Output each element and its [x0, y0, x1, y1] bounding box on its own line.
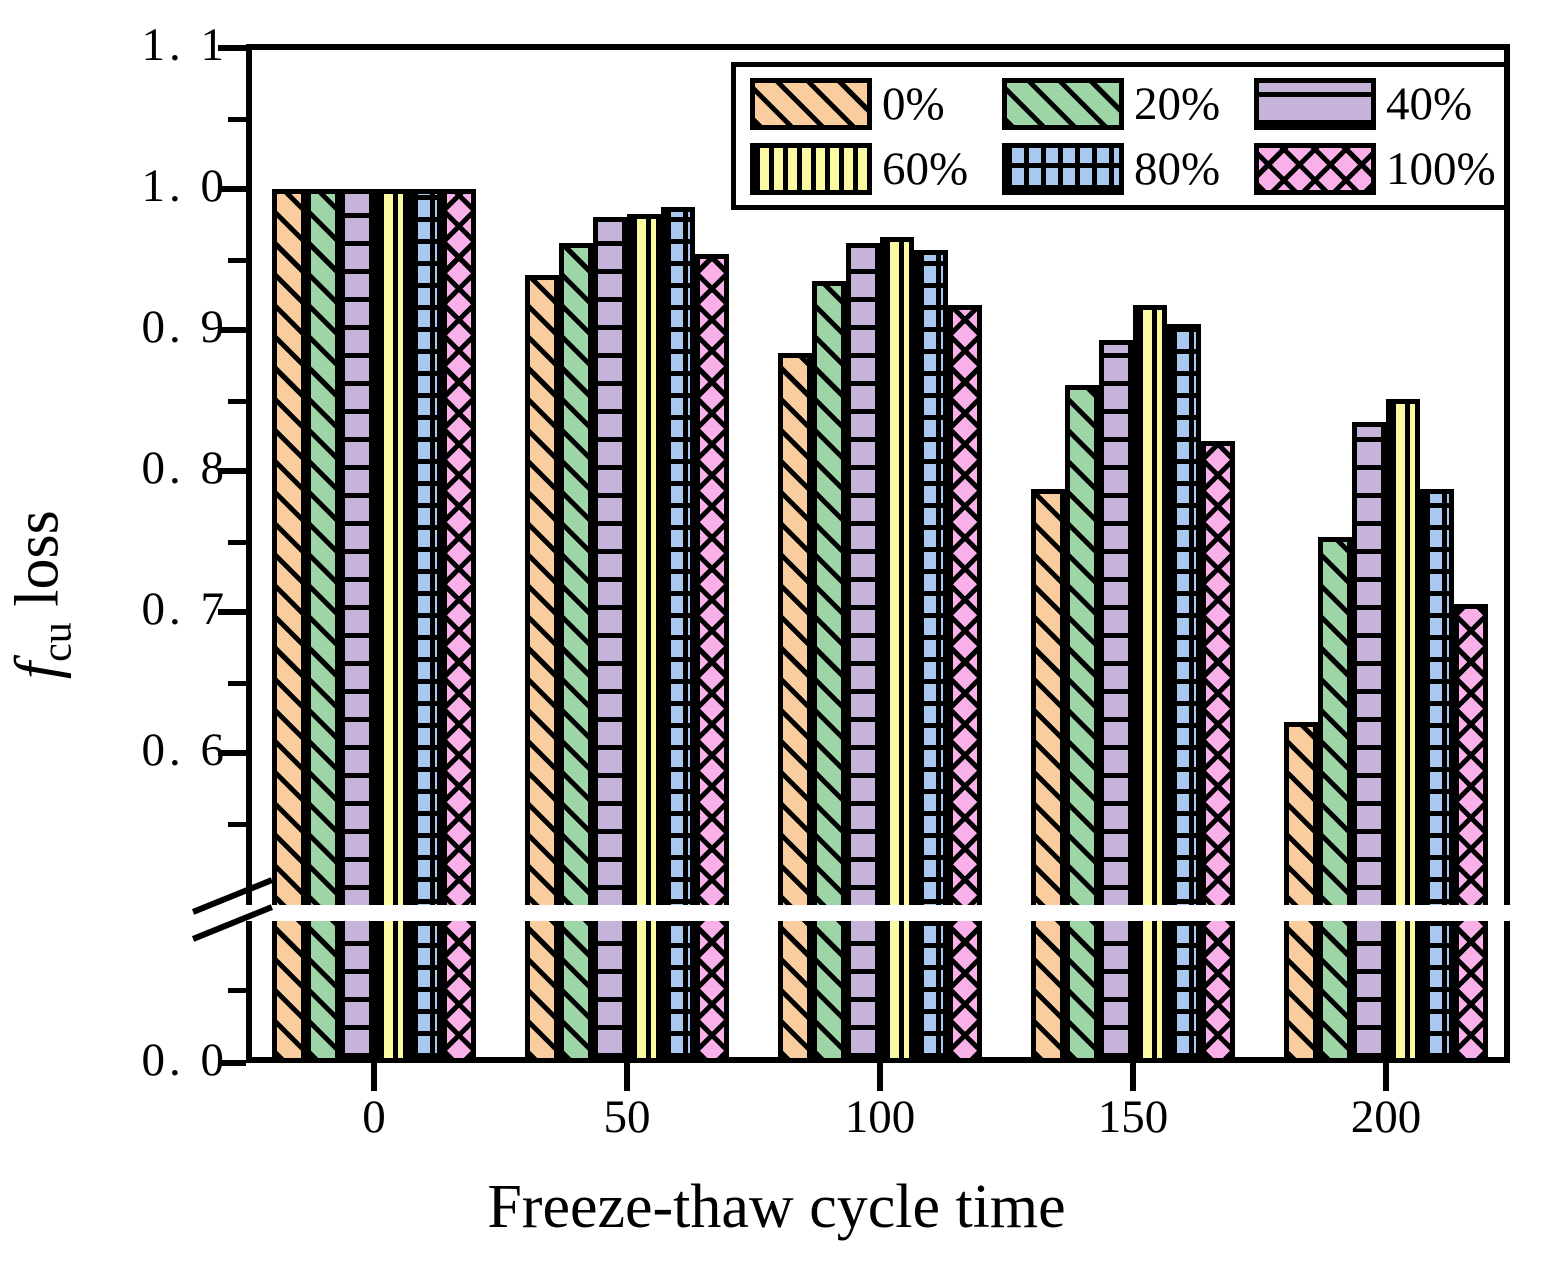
legend-swatch-100pct [1254, 143, 1376, 195]
y-axis-title: fcu loss [2, 365, 81, 825]
bar-100-60pct [880, 237, 914, 1063]
y-tick-minor [228, 258, 246, 263]
x-tick-label: 200 [1306, 1090, 1466, 1144]
legend-label: 60% [882, 142, 968, 196]
y-tick-label: 1. 1 [108, 18, 228, 72]
bar-100-20pct [812, 281, 846, 1063]
y-tick-label: 0. 8 [108, 441, 228, 495]
y-tick-minor [228, 399, 246, 404]
legend: 0%20%40%60%80%100% [731, 62, 1509, 210]
bar-100-100pct [948, 305, 982, 1063]
y-tick-minor [228, 681, 246, 686]
bar-200-0pct [1284, 722, 1318, 1063]
x-tick-50 [624, 1063, 630, 1091]
y-axis-title-italic: f [3, 662, 71, 679]
x-tick-label: 0 [294, 1090, 454, 1144]
legend-item-0pct[interactable]: 0% [742, 77, 994, 131]
bar-50-40pct [593, 217, 627, 1063]
y-tick-label: 0. 0 [108, 1033, 228, 1087]
bar-0-0pct [272, 189, 306, 1063]
bar-50-0pct [525, 275, 559, 1063]
legend-swatch-20pct [1002, 78, 1124, 130]
bar-200-80pct [1420, 489, 1454, 1063]
bar-150-100pct [1201, 441, 1235, 1063]
legend-label: 80% [1134, 142, 1220, 196]
x-tick-0 [371, 1063, 377, 1091]
legend-swatch-60pct [750, 143, 872, 195]
bar-150-80pct [1167, 324, 1201, 1063]
x-tick-label: 50 [547, 1090, 707, 1144]
legend-swatch-80pct [1002, 143, 1124, 195]
bar-200-100pct [1454, 604, 1488, 1063]
x-tick-label: 100 [800, 1090, 960, 1144]
x-tick-label: 150 [1053, 1090, 1213, 1144]
bar-100-80pct [914, 250, 948, 1063]
legend-item-20pct[interactable]: 20% [994, 77, 1246, 131]
y-axis-title-subscript: cu [35, 622, 81, 662]
bar-50-60pct [627, 214, 661, 1063]
bar-0-80pct [408, 189, 442, 1063]
y-axis-title-rest: loss [3, 510, 71, 622]
bar-200-60pct [1386, 399, 1420, 1063]
y-tick-minor [228, 822, 246, 827]
bar-0-40pct [340, 189, 374, 1063]
bar-150-60pct [1133, 305, 1167, 1063]
bar-150-0pct [1031, 489, 1065, 1063]
legend-item-100pct[interactable]: 100% [1246, 142, 1498, 196]
x-tick-200 [1383, 1063, 1389, 1091]
bar-150-40pct [1099, 340, 1133, 1063]
chart-figure: 1. 11. 00. 90. 80. 70. 60. 0 05010015020… [0, 0, 1553, 1265]
bar-100-0pct [778, 353, 812, 1063]
legend-label: 100% [1386, 142, 1496, 196]
legend-label: 0% [882, 77, 945, 131]
legend-item-60pct[interactable]: 60% [742, 142, 994, 196]
legend-item-40pct[interactable]: 40% [1246, 77, 1498, 131]
y-tick-minor [228, 117, 246, 122]
y-tick-label: 0. 9 [108, 300, 228, 354]
x-tick-100 [877, 1063, 883, 1091]
bar-100-40pct [846, 243, 880, 1063]
legend-swatch-40pct [1254, 78, 1376, 130]
bar-50-20pct [559, 243, 593, 1063]
y-tick-minor [228, 540, 246, 545]
y-tick-label: 0. 6 [108, 723, 228, 777]
bar-200-40pct [1352, 422, 1386, 1063]
bar-50-80pct [661, 207, 695, 1063]
bar-200-20pct [1318, 537, 1352, 1063]
legend-item-80pct[interactable]: 80% [994, 142, 1246, 196]
bar-0-100pct [442, 189, 476, 1063]
x-axis-title: Freeze-thaw cycle time [0, 1172, 1553, 1243]
legend-swatch-0pct [750, 78, 872, 130]
legend-label: 40% [1386, 77, 1472, 131]
y-tick-minor [228, 988, 246, 993]
bar-0-20pct [306, 189, 340, 1063]
legend-label: 20% [1134, 77, 1220, 131]
axis-break-band [240, 905, 1516, 921]
bar-50-100pct [695, 254, 729, 1063]
x-tick-150 [1130, 1063, 1136, 1091]
bar-150-20pct [1065, 385, 1099, 1063]
y-tick-label: 1. 0 [108, 159, 228, 213]
bar-0-60pct [374, 189, 408, 1063]
y-tick-label: 0. 7 [108, 582, 228, 636]
